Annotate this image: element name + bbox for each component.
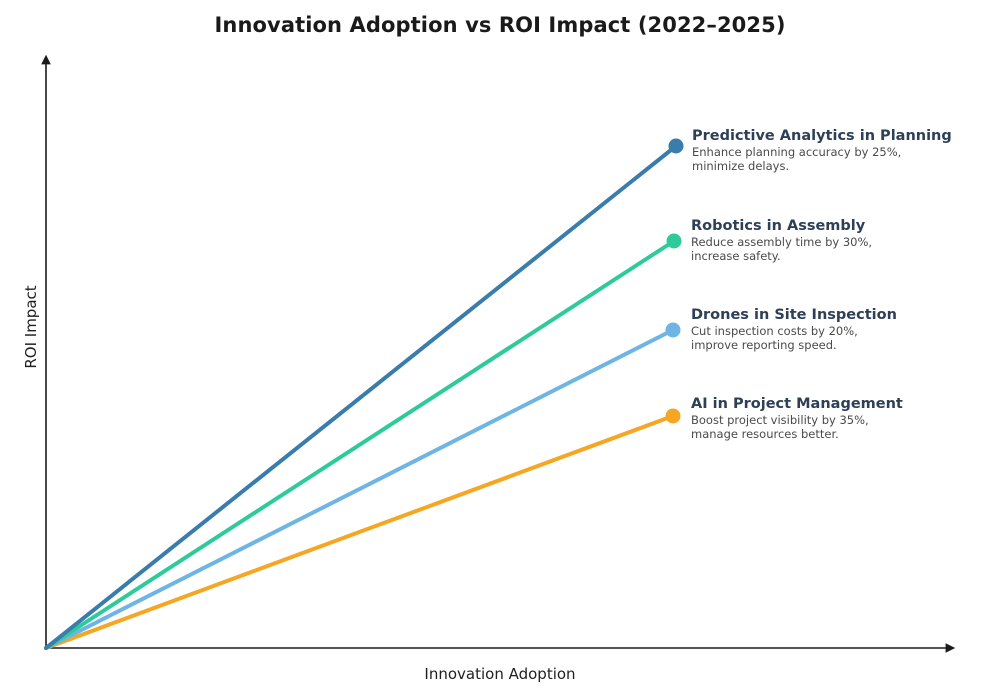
series-annotation-title: AI in Project Management [691, 396, 991, 413]
series-annotation-title: Robotics in Assembly [691, 218, 991, 235]
series-line-predictive-analytics-in-planning [46, 146, 676, 648]
series-annotation-description: Reduce assembly time by 30%, increase sa… [691, 236, 991, 263]
series-annotation-title: Drones in Site Inspection [691, 307, 991, 324]
series-annotation-title: Predictive Analytics in Planning [692, 128, 992, 145]
series-annotation-predictive-analytics-in-planning[interactable]: Predictive Analytics in Planning Enhance… [692, 128, 992, 173]
series-marker-robotics-in-assembly[interactable] [667, 234, 682, 249]
series-marker-drones-in-site-inspection[interactable] [666, 323, 681, 338]
series-annotation-ai-in-project-management[interactable]: AI in Project Management Boost project v… [691, 396, 991, 441]
series-marker-ai-in-project-management[interactable] [666, 409, 681, 424]
series-line-drones-in-site-inspection [46, 330, 673, 648]
chart-canvas: Innovation Adoption vs ROI Impact (2022–… [0, 0, 1000, 700]
series-annotation-drones-in-site-inspection[interactable]: Drones in Site Inspection Cut inspection… [691, 307, 991, 352]
series-annotation-description: Enhance planning accuracy by 25%, minimi… [692, 146, 992, 173]
series-line-robotics-in-assembly [46, 241, 674, 648]
x-axis-label: Innovation Adoption [300, 665, 700, 683]
series-marker-predictive-analytics-in-planning[interactable] [669, 139, 684, 154]
series-line-ai-in-project-management [46, 416, 673, 648]
y-axis-label: ROI Impact [22, 267, 40, 387]
series-annotation-description: Boost project visibility by 35%, manage … [691, 414, 991, 441]
series-annotation-robotics-in-assembly[interactable]: Robotics in Assembly Reduce assembly tim… [691, 218, 991, 263]
series-annotation-description: Cut inspection costs by 20%, improve rep… [691, 325, 991, 352]
